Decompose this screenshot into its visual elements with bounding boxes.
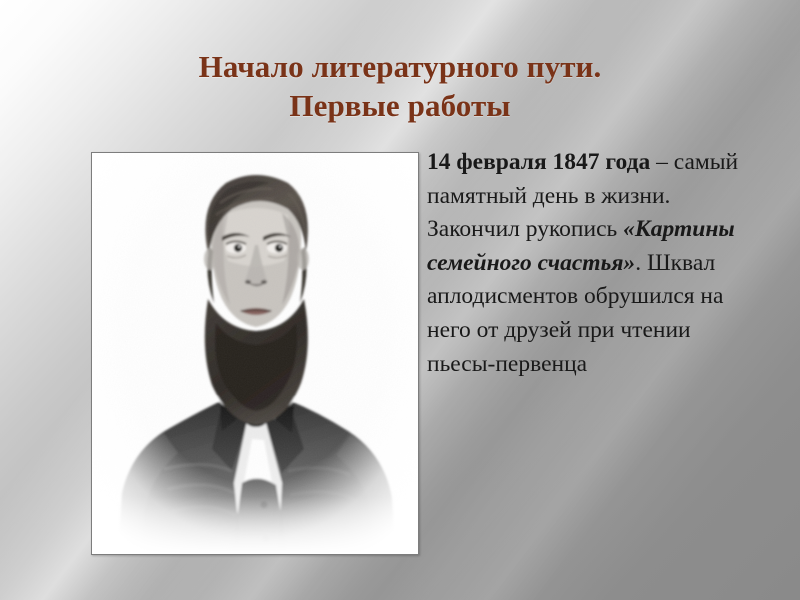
slide-title: Начало литературного пути. Первые работы [0,47,800,125]
portrait-frame [91,152,419,555]
portrait-image [92,153,418,554]
presentation-slide: Начало литературного пути. Первые работы [0,0,800,600]
slide-title-line-1: Начало литературного пути. [0,47,800,86]
slide-body-text: 14 февраля 1847 года – самый памятный де… [427,146,757,381]
body-segment-date: 14 февраля 1847 года [427,149,650,175]
slide-title-line-2: Первые работы [0,86,800,125]
